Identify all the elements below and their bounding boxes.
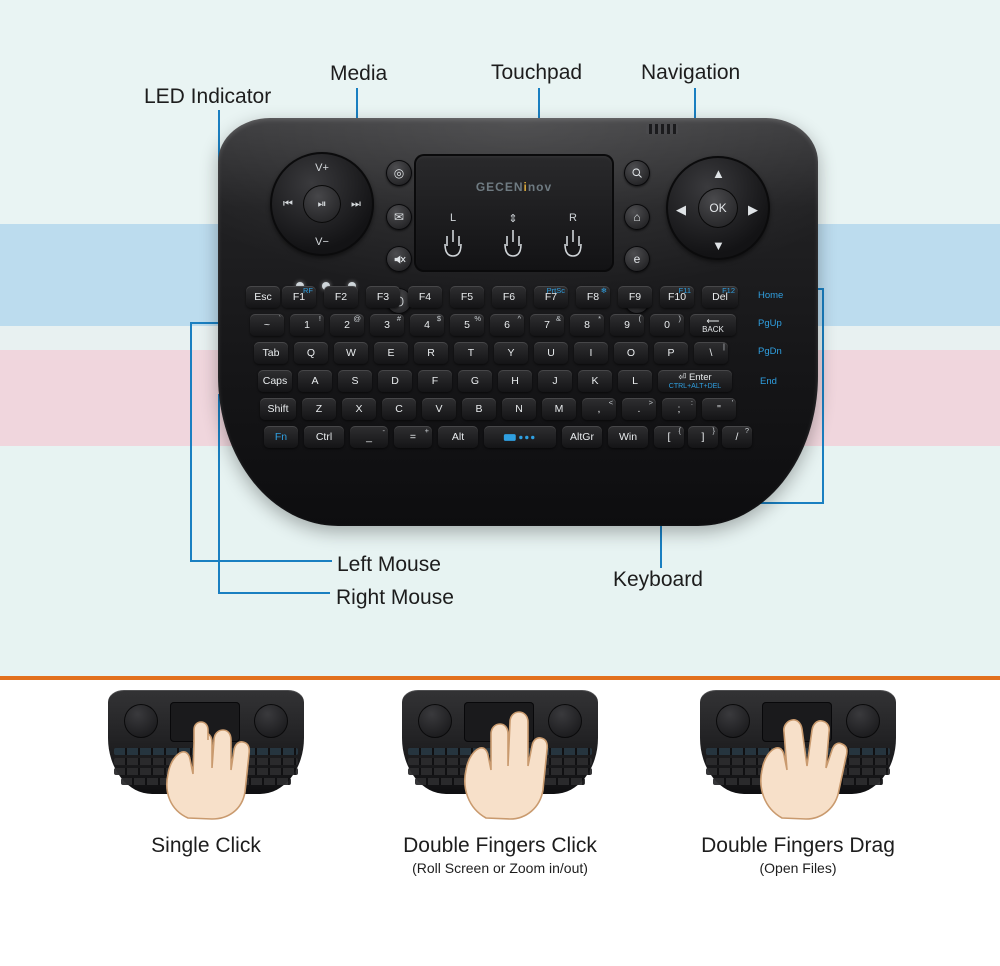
key-f[interactable]: F (418, 370, 452, 392)
key-underscore-sup: - (383, 427, 386, 435)
key-tab[interactable]: Tab (254, 342, 288, 364)
key-period[interactable]: >. (622, 398, 656, 420)
key-z[interactable]: Z (302, 398, 336, 420)
key-2-label: 2 (344, 320, 350, 331)
legend-pgup: PgUp (758, 318, 782, 329)
key-6-sup: ^ (517, 315, 521, 323)
key-fn[interactable]: Fn (264, 426, 298, 448)
key-tilde-sup: ` (279, 315, 282, 323)
product-diagram-panel: LED Indicator Media Touchpad Navigation … (0, 0, 1000, 676)
touchpad-scroll-label: ⇕ (496, 212, 530, 225)
gesture-caption-double-click: Double Fingers Click (350, 834, 650, 858)
media-prev-label[interactable]: ⏮ (278, 198, 298, 211)
key-bracket-right-sup: } (712, 427, 715, 435)
media-next-label[interactable]: ⏭ (346, 198, 366, 211)
key-s[interactable]: S (338, 370, 372, 392)
key-shift[interactable]: Shift (260, 398, 296, 420)
key-3[interactable]: #3 (370, 314, 404, 336)
gesture-demo-single-click: Single Click (56, 690, 356, 860)
mute-glyph (393, 253, 406, 266)
key-semicolon-sup: : (691, 399, 693, 407)
hand-double-drag-icon (742, 710, 862, 820)
key-6-label: 6 (504, 320, 510, 331)
media-volume-down-label[interactable]: V− (304, 236, 340, 248)
key-1[interactable]: !1 (290, 314, 324, 336)
key-d[interactable]: D (378, 370, 412, 392)
key-ctrl[interactable]: Ctrl (304, 426, 344, 448)
key-period-label: . (638, 404, 641, 415)
key-b[interactable]: B (462, 398, 496, 420)
callout-label-media: Media (330, 62, 387, 86)
key-comma[interactable]: <, (582, 398, 616, 420)
key-caps[interactable]: Caps (258, 370, 292, 392)
key-win[interactable]: Win (608, 426, 648, 448)
key-h[interactable]: H (498, 370, 532, 392)
navigation-up-icon[interactable]: ▲ (712, 166, 725, 181)
key-del-sup: F12 (722, 287, 735, 295)
navigation-right-icon[interactable]: ▶ (748, 202, 758, 218)
key-f1-sup: RF (303, 287, 313, 295)
key-tilde-label: ~ (264, 320, 270, 331)
gesture-sub-double-drag: (Open Files) (648, 860, 948, 876)
callout-label-touchpad: Touchpad (491, 61, 582, 85)
key-comma-sup: < (609, 399, 613, 407)
navigation-down-icon[interactable]: ▼ (712, 238, 725, 253)
key-5[interactable]: %5 (450, 314, 484, 336)
key-r[interactable]: R (414, 342, 448, 364)
key-altgr[interactable]: AltGr (562, 426, 602, 448)
key-enter-sub: CTRL+ALT+DEL (669, 383, 721, 390)
mute-icon[interactable] (386, 246, 412, 272)
key-p[interactable]: P (654, 342, 688, 364)
key-bracket-left-sup: { (678, 427, 681, 435)
key-tilde[interactable]: `~ (250, 314, 284, 336)
key-m[interactable]: M (542, 398, 576, 420)
key-c[interactable]: C (382, 398, 416, 420)
key-7-label: 7 (544, 320, 550, 331)
mini-keyboard-device: GECENinov L ⇕ R V+ V− ⏮ ⏯ ⏭ OK ▲ ▼ (218, 118, 818, 528)
key-backslash-sup: | (723, 343, 725, 351)
key-9-sup: ( (639, 315, 642, 323)
key-u[interactable]: U (534, 342, 568, 364)
gesture-caption-double-drag: Double Fingers Drag (648, 834, 948, 858)
key-slash-sup: ? (745, 427, 749, 435)
callout-label-keyboard: Keyboard (613, 568, 703, 592)
key-6[interactable]: ^6 (490, 314, 524, 336)
key-7-sup: & (556, 315, 561, 323)
key-period-sup: > (649, 399, 653, 407)
key-f8-sup: ❄ (601, 287, 607, 295)
key-1-sup: ! (319, 315, 321, 323)
key-backspace-label: BACK (702, 325, 724, 334)
key-8[interactable]: *8 (570, 314, 604, 336)
key-f2[interactable]: F2 (324, 286, 358, 308)
callout-label-navigation: Navigation (641, 61, 740, 85)
key-f10-sup: F11 (679, 287, 691, 295)
brand-suffix: nov (528, 180, 552, 194)
key-f7-sup: PrtSc (547, 287, 565, 295)
gesture-image-double-click (402, 690, 598, 820)
gesture-sub-double-click: (Roll Screen or Zoom in/out) (350, 860, 650, 876)
key-enter-label: ⏎ Enter (678, 373, 711, 383)
mail-icon[interactable]: ✉ (386, 204, 412, 230)
key-enter-arrow: ⏎ (678, 372, 686, 383)
key-f7[interactable]: PrtScF7 (534, 286, 568, 308)
key-enter[interactable]: ⏎ Enter CTRL+ALT+DEL (658, 370, 732, 392)
key-quote-sup: ' (732, 399, 733, 407)
key-9-label: 9 (624, 320, 630, 331)
key-9[interactable]: (9 (610, 314, 644, 336)
key-f8[interactable]: ❄F8 (576, 286, 610, 308)
key-n[interactable]: N (502, 398, 536, 420)
gesture-image-double-drag (700, 690, 896, 820)
brand-prefix: GECEN (476, 180, 524, 194)
key-underscore-label: _ (366, 432, 372, 443)
gesture-image-single-click (108, 690, 304, 820)
hand-icon-right (560, 228, 586, 258)
key-x[interactable]: X (342, 398, 376, 420)
key-equals-sup: + (425, 427, 429, 435)
key-equals[interactable]: += (394, 426, 432, 448)
hand-icon-left (440, 228, 466, 258)
callout-label-left-mouse: Left Mouse (337, 553, 441, 577)
key-f10[interactable]: F11F10 (660, 286, 694, 308)
key-bracket-right[interactable]: }] (688, 426, 718, 448)
keyboard-key-grid: Esc RFF1 F2 F3 F4 F5 F6 PrtScF7 ❄F8 F9 F… (246, 286, 791, 490)
gesture-demo-double-click: Double Fingers Click (Roll Screen or Zoo… (350, 690, 650, 876)
callout-label-right-mouse: Right Mouse (336, 586, 454, 610)
space-glyph (503, 432, 537, 443)
key-e[interactable]: E (374, 342, 408, 364)
key-4-label: 4 (424, 320, 430, 331)
legend-pgdn: PgDn (758, 346, 782, 357)
key-8-sup: * (598, 315, 601, 323)
key-w[interactable]: W (334, 342, 368, 364)
callout-label-led-indicator: LED Indicator (144, 85, 271, 109)
key-1-label: 1 (304, 320, 310, 331)
key-f6[interactable]: F6 (492, 286, 526, 308)
key-f8-label: F8 (587, 292, 599, 303)
key-semicolon[interactable]: :; (662, 398, 696, 420)
browser-icon[interactable]: e (624, 246, 650, 272)
key-quote-label: " (717, 404, 721, 415)
key-underscore[interactable]: -_ (350, 426, 388, 448)
legend-end: End (760, 376, 777, 387)
search-icon[interactable] (624, 160, 650, 186)
key-semicolon-label: ; (678, 404, 681, 415)
key-y[interactable]: Y (494, 342, 528, 364)
key-backspace-arrow: ⟵ (707, 317, 720, 325)
key-5-sup: % (474, 315, 481, 323)
key-o[interactable]: O (614, 342, 648, 364)
antenna-icon (646, 124, 678, 134)
hand-icon-scroll (500, 228, 526, 258)
key-f5[interactable]: F5 (450, 286, 484, 308)
gesture-demo-panel: Single Click Double Fingers Click (Roll … (0, 680, 1000, 966)
key-q[interactable]: Q (294, 342, 328, 364)
key-2-sup: @ (353, 315, 361, 323)
key-space[interactable] (484, 426, 556, 448)
key-f3[interactable]: F3 (366, 286, 400, 308)
callout-line-right-mouse-bottom (218, 592, 330, 594)
key-enter-text: Enter (689, 372, 712, 383)
key-j[interactable]: J (538, 370, 572, 392)
callout-line-left-mouse-bottom (190, 560, 332, 562)
key-l[interactable]: L (618, 370, 652, 392)
gesture-demo-double-drag: Double Fingers Drag (Open Files) (648, 690, 948, 876)
key-esc[interactable]: Esc (246, 286, 280, 308)
touchpad-surface[interactable]: GECENinov L ⇕ R (414, 154, 614, 272)
key-slash[interactable]: ?/ (722, 426, 752, 448)
key-del[interactable]: F12Del (702, 286, 738, 308)
touchpad-right-label: R (556, 212, 590, 224)
key-i[interactable]: I (574, 342, 608, 364)
key-bracket-right-label: ] (702, 432, 705, 443)
gesture-caption-single-click: Single Click (56, 834, 356, 858)
key-v[interactable]: V (422, 398, 456, 420)
hand-double-click-icon (446, 708, 556, 820)
key-f9[interactable]: F9 (618, 286, 652, 308)
search-glyph (631, 167, 643, 179)
key-5-label: 5 (464, 320, 470, 331)
key-comma-label: , (598, 404, 601, 415)
key-backspace[interactable]: ⟵ BACK (690, 314, 736, 336)
key-bracket-left-label: [ (668, 432, 671, 443)
navigation-left-icon[interactable]: ◀ (676, 202, 686, 218)
key-quote[interactable]: '" (702, 398, 736, 420)
hand-single-click-icon (150, 718, 260, 820)
home-icon[interactable]: ⌂ (624, 204, 650, 230)
key-f1[interactable]: RFF1 (282, 286, 316, 308)
key-a[interactable]: A (298, 370, 332, 392)
key-3-sup: # (397, 315, 401, 323)
key-t[interactable]: T (454, 342, 488, 364)
key-f4[interactable]: F4 (408, 286, 442, 308)
key-backslash[interactable]: |\ (694, 342, 728, 364)
key-2[interactable]: @2 (330, 314, 364, 336)
key-0-sup: ) (679, 315, 682, 323)
touchpad-left-label: L (436, 212, 470, 224)
callout-line-left-mouse-vert (190, 322, 192, 562)
key-0-label: 0 (664, 320, 670, 331)
media-volume-up-label[interactable]: V+ (304, 162, 340, 174)
navigation-ok-button[interactable]: OK (698, 188, 738, 228)
key-equals-label: = (410, 432, 416, 443)
key-8-label: 8 (584, 320, 590, 331)
key-slash-label: / (736, 432, 739, 443)
key-3-label: 3 (384, 320, 390, 331)
key-7[interactable]: &7 (530, 314, 564, 336)
legend-home: Home (758, 290, 783, 301)
key-0[interactable]: )0 (650, 314, 684, 336)
key-4[interactable]: $4 (410, 314, 444, 336)
power-icon[interactable]: ◎ (386, 160, 412, 186)
key-bracket-left[interactable]: {[ (654, 426, 684, 448)
media-play-label[interactable]: ⏯ (312, 198, 332, 211)
key-g[interactable]: G (458, 370, 492, 392)
key-4-sup: $ (437, 315, 441, 323)
key-k[interactable]: K (578, 370, 612, 392)
key-backslash-label: \ (710, 348, 713, 359)
brand-logo: GECENinov (414, 180, 614, 194)
key-alt[interactable]: Alt (438, 426, 478, 448)
